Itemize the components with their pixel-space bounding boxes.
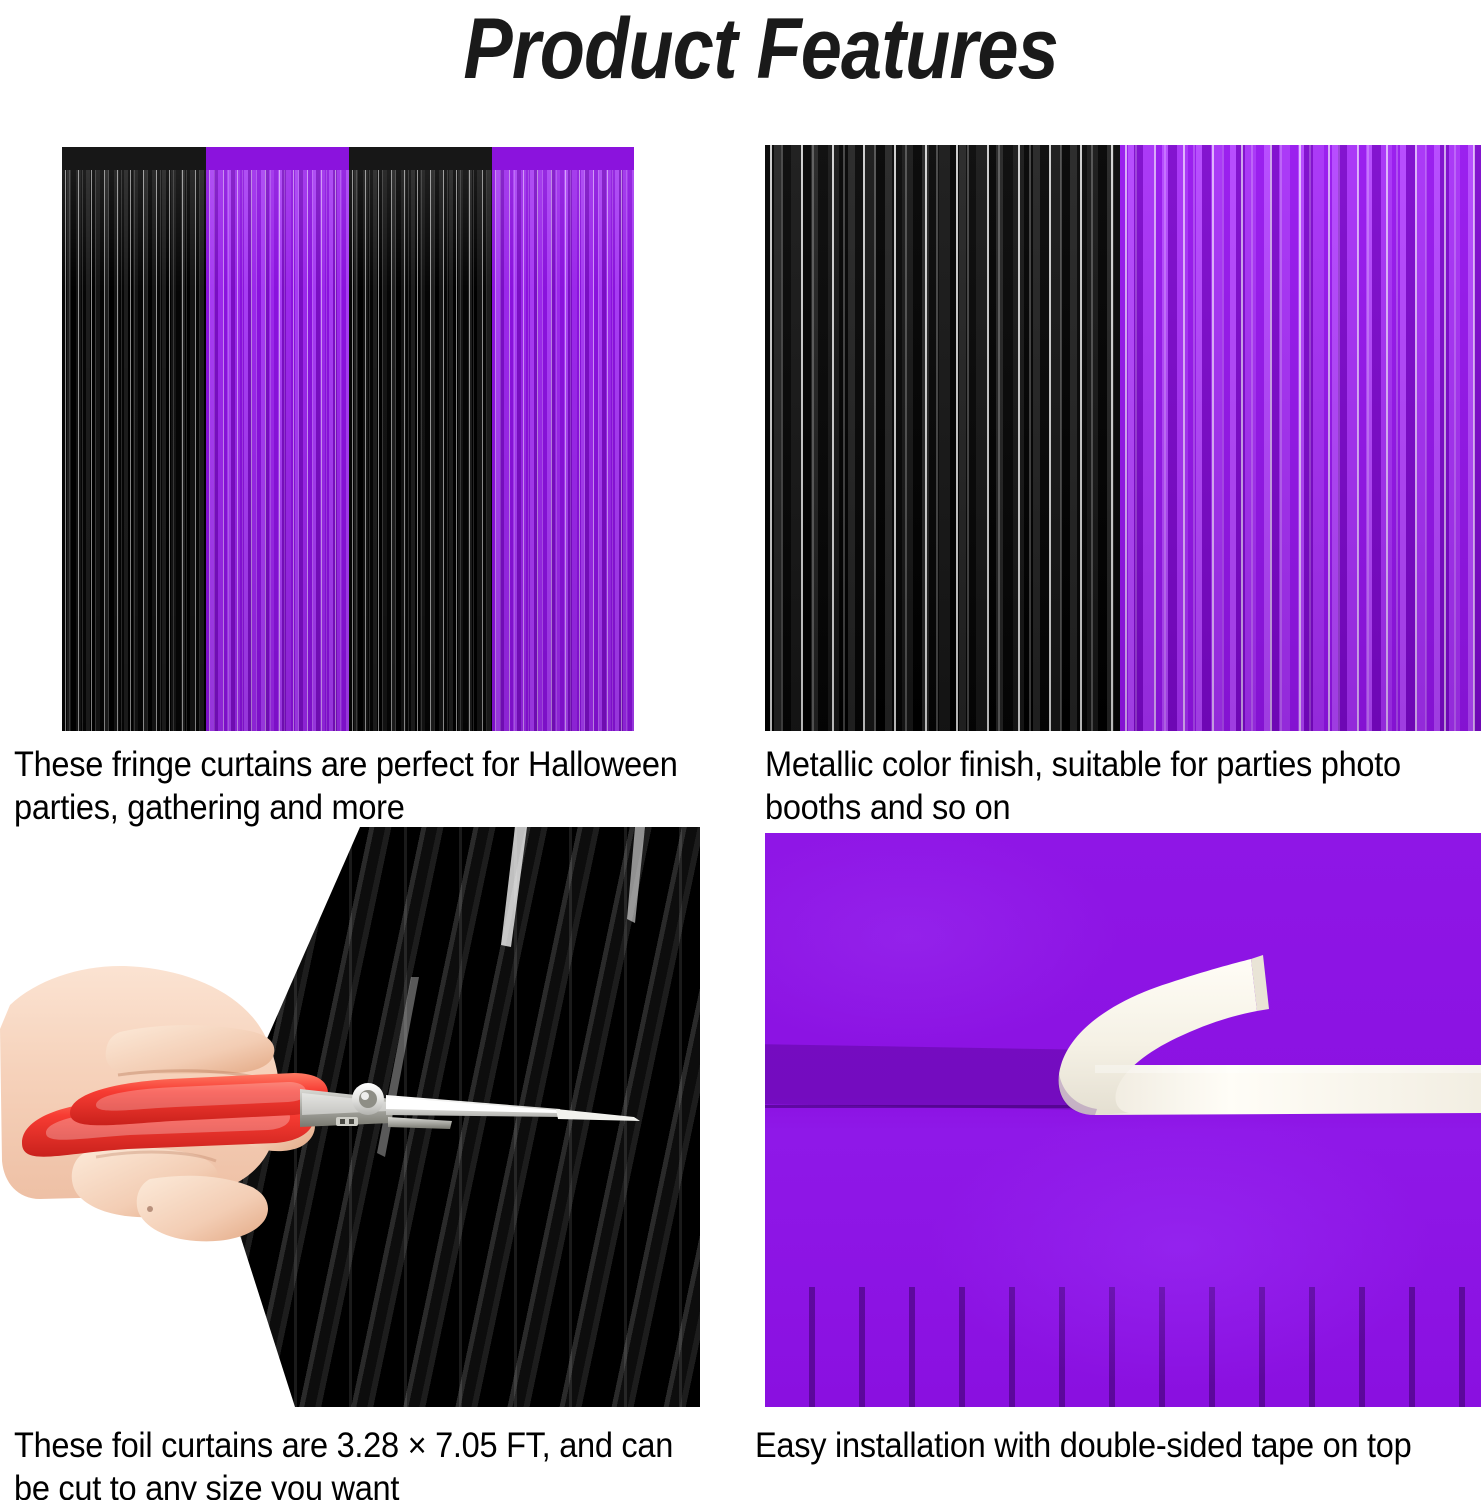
feature-caption-fringe-curtain-panels: These fringe curtains are perfect for Ha… xyxy=(14,744,702,829)
feature-card-double-sided-tape xyxy=(765,833,1481,1407)
cut-to-size-image xyxy=(0,827,700,1407)
closeup-half-purple xyxy=(1120,145,1481,731)
panel-fringe-strips xyxy=(492,170,634,731)
panel-header-band xyxy=(206,147,349,170)
panel-header-band xyxy=(492,147,634,170)
fringe-curtain-panels-image xyxy=(62,147,634,731)
curtain-panel-black-1 xyxy=(62,147,206,731)
closeup-halves xyxy=(765,145,1481,731)
curtain-panel-black-2 xyxy=(349,147,491,731)
panel-fringe-strips xyxy=(349,170,491,731)
hand-with-scissors xyxy=(0,827,700,1407)
feature-caption-cut-to-size: These foil curtains are 3.28 × 7.05 FT, … xyxy=(14,1425,702,1500)
page-title: Product Features xyxy=(463,6,1058,92)
double-sided-tape-image xyxy=(765,833,1481,1407)
page-title-bar: Product Features xyxy=(0,6,1481,92)
panel-fringe-strips xyxy=(62,170,206,731)
curtain-panel-purple-2 xyxy=(492,147,634,731)
panel-fringe-strips xyxy=(206,170,349,731)
curtain-panel-purple-1 xyxy=(206,147,349,731)
double-sided-tape-strip xyxy=(765,833,1481,1407)
feature-card-fringe-curtain-panels xyxy=(62,147,634,731)
closeup-half-black xyxy=(765,145,1120,731)
metallic-finish-closeup-image xyxy=(765,145,1481,731)
feature-card-metallic-finish-closeup xyxy=(765,145,1481,731)
product-features-page: Product Features xyxy=(0,0,1481,1500)
feature-card-cut-to-size xyxy=(0,827,700,1407)
panel-header-band xyxy=(349,147,491,170)
feature-caption-metallic-finish-closeup: Metallic color finish, suitable for part… xyxy=(765,744,1431,829)
feature-caption-double-sided-tape: Easy installation with double-sided tape… xyxy=(755,1425,1443,1468)
panel-header-band xyxy=(62,147,206,170)
curtain-panel-group xyxy=(62,147,634,731)
